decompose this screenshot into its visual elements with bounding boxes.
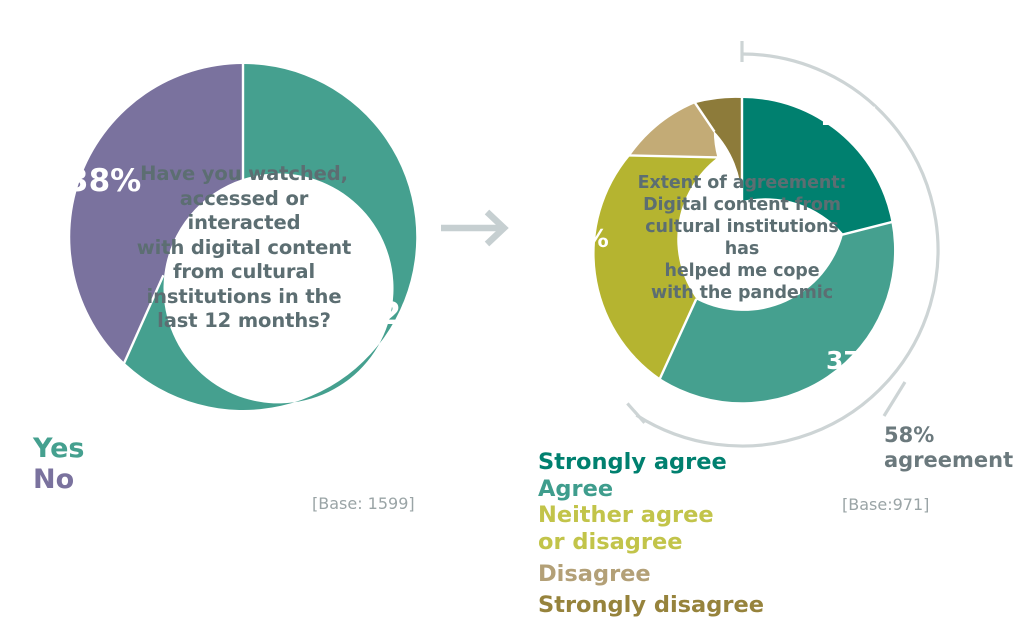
center-line: with the pandemic xyxy=(633,282,851,304)
arrow-right-icon xyxy=(441,212,504,244)
right-slice-label-strongly-agree: 22% xyxy=(821,102,881,131)
center-line: cultural institutions has xyxy=(633,216,851,260)
legend-item-agree[interactable]: Agree xyxy=(538,477,764,502)
legend-item-neither-line1[interactable]: Neither agree xyxy=(538,503,764,528)
center-line: with digital content xyxy=(128,236,360,261)
legend-item-no[interactable]: No xyxy=(33,465,84,495)
center-line: last 12 months? xyxy=(128,309,360,334)
agreement-bracket-leader xyxy=(884,382,905,416)
left-chart-base-note: [Base: 1599] xyxy=(312,494,415,513)
legend-item-neither-line2[interactable]: or disagree xyxy=(538,530,764,555)
center-line: Have you watched, xyxy=(128,162,360,187)
center-line: Digital content from xyxy=(633,194,851,216)
center-line: from cultural xyxy=(128,260,360,285)
left-chart-legend: Yes No xyxy=(33,434,84,496)
left-slice-label-yes: 62% xyxy=(358,296,432,332)
left-chart-center-question: Have you watched, accessed or interacted… xyxy=(128,162,360,334)
center-line: Extent of agreement: xyxy=(633,172,851,194)
legend-item-disagree[interactable]: Disagree xyxy=(538,562,764,587)
right-chart-base-note: [Base:971] xyxy=(842,495,929,514)
center-line: helped me cope xyxy=(633,260,851,282)
right-slice-label-neither: 28% xyxy=(549,224,609,253)
center-line: institutions in the xyxy=(128,285,360,310)
legend-item-strongly-agree[interactable]: Strongly agree xyxy=(538,450,764,475)
right-slice-label-disagree: 8% xyxy=(631,81,673,110)
infographic-canvas: Have you watched, accessed or interacted… xyxy=(0,0,1024,644)
right-slice-label-strongly-disagree: 4% xyxy=(700,53,742,82)
left-slice-label-no: 38% xyxy=(67,163,141,199)
right-chart-center-question: Extent of agreement: Digital content fro… xyxy=(633,172,851,304)
right-chart-legend: Strongly agree Agree Neither agree or di… xyxy=(538,450,764,620)
agreement-bracket-label-word: agreement xyxy=(884,448,1013,473)
center-line: accessed or interacted xyxy=(128,187,360,236)
right-slice-label-agree: 37% xyxy=(826,346,886,375)
legend-item-strongly-disagree[interactable]: Strongly disagree xyxy=(538,593,764,618)
legend-item-yes[interactable]: Yes xyxy=(33,434,84,464)
agreement-bracket-label-value: 58% xyxy=(884,423,1013,448)
agreement-bracket-tick-end xyxy=(627,403,644,422)
agreement-bracket-label: 58% agreement xyxy=(884,423,1013,473)
